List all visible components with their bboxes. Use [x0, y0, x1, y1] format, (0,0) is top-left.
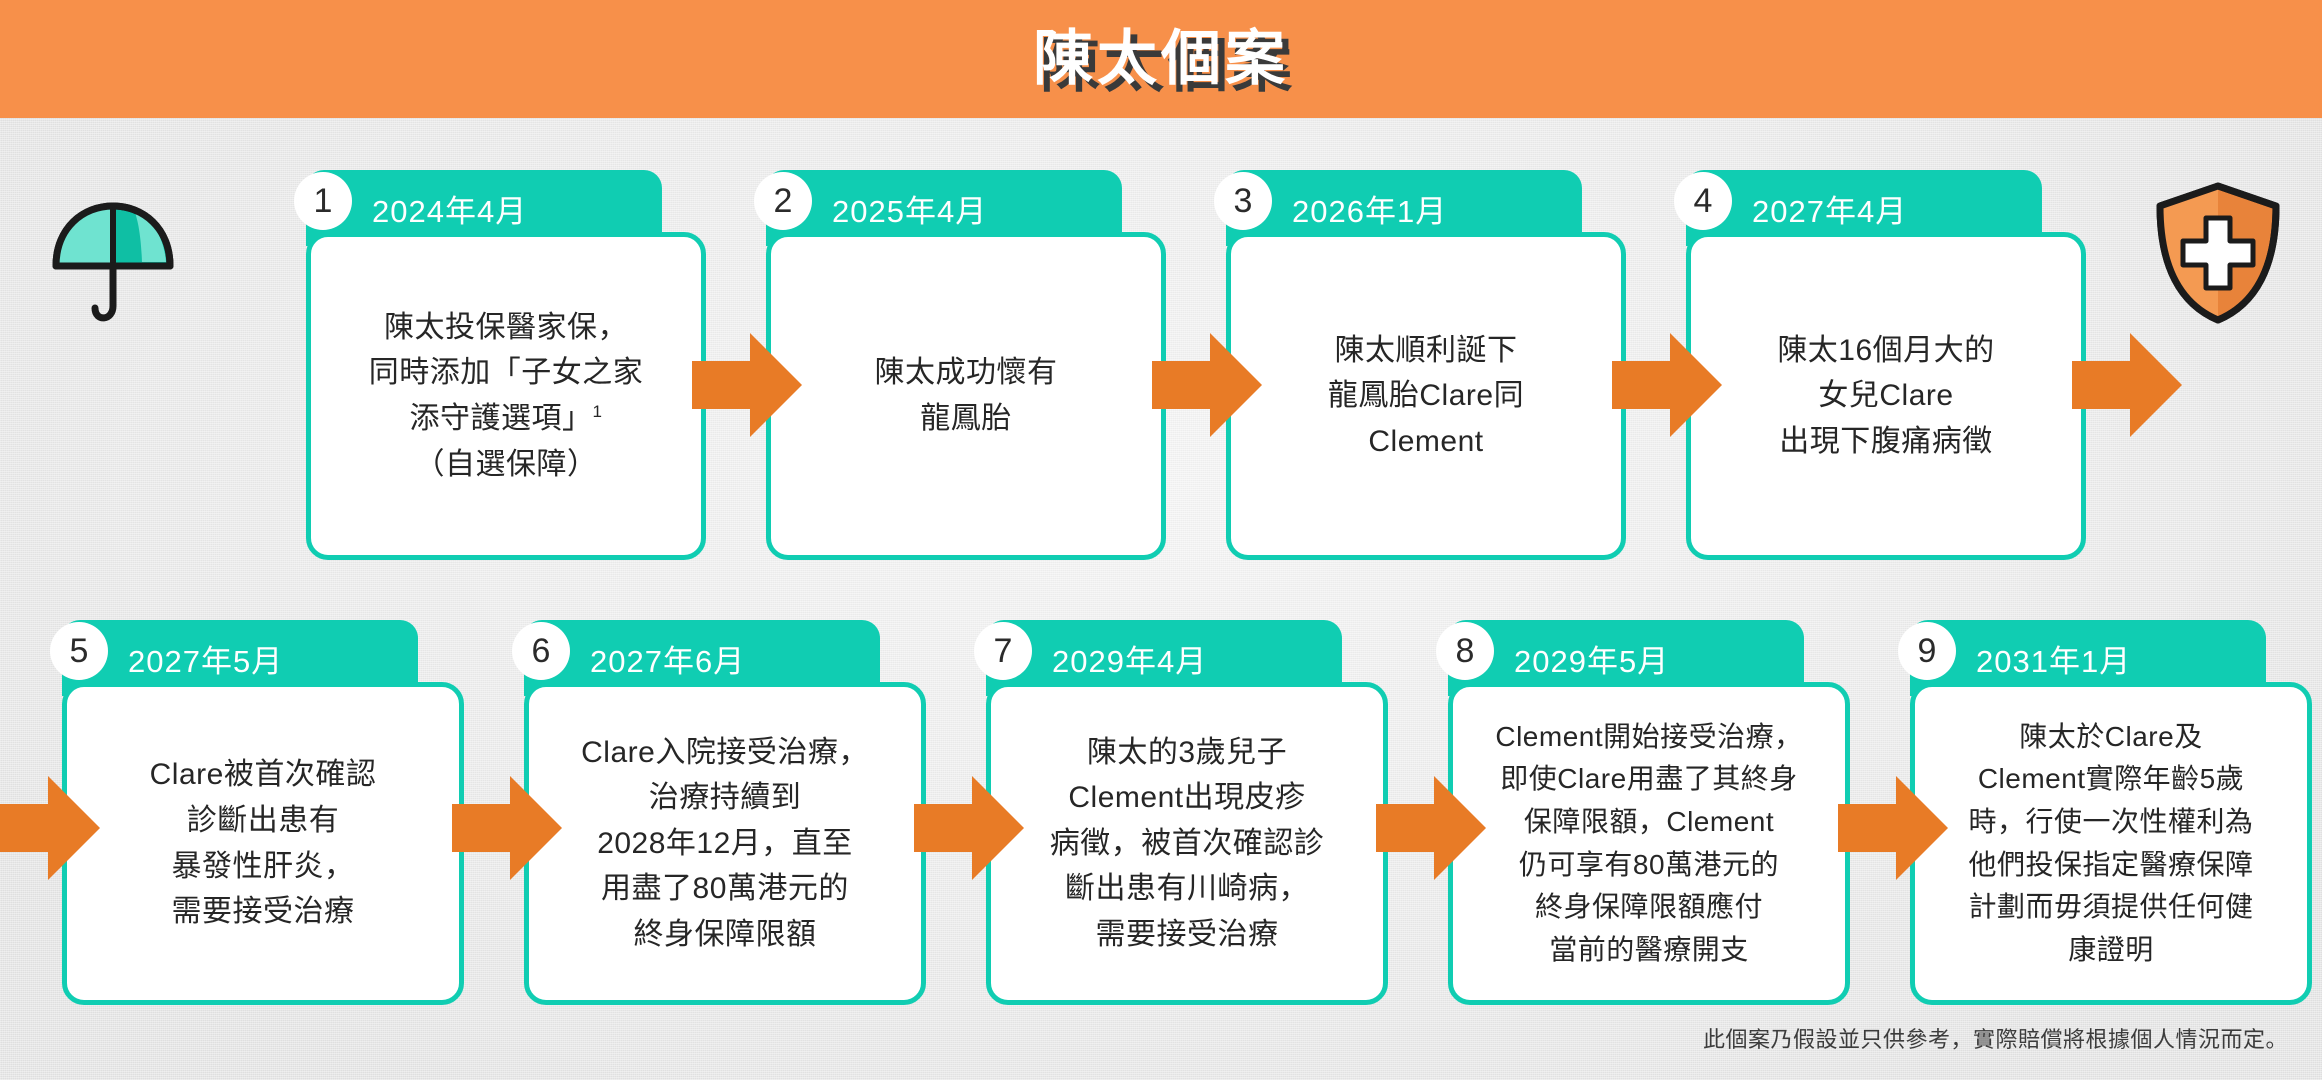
flow-arrow-4	[2072, 333, 2182, 437]
card-date-label: 2024年4月	[372, 186, 527, 231]
card-body: 陳太順利誕下 龍鳳胎Clare同 Clement	[1226, 232, 1626, 560]
flow-arrow-3	[1612, 333, 1722, 437]
card-body-text: Clare入院接受治療， 治療持續到 2028年12月，直至 用盡了80萬港元的…	[565, 730, 885, 958]
card-body-text: 陳太成功懷有 龍鳳胎	[859, 350, 1074, 441]
timeline-card-4[interactable]: 2027年4月 4 陳太16個月大的 女兒Clare 出現下腹痛病徵	[1686, 170, 2086, 560]
card-body-text: 陳太於Clare及 Clement實際年齡5歲 時，行使一次性權利為 他們投保指…	[1952, 716, 2269, 971]
flow-arrow-6	[452, 776, 562, 880]
card-date-label: 2027年4月	[1752, 186, 1907, 231]
flow-arrow-2	[1152, 333, 1262, 437]
flow-arrow-8	[1376, 776, 1486, 880]
card-body: Clare入院接受治療， 治療持續到 2028年12月，直至 用盡了80萬港元的…	[524, 682, 926, 1005]
card-date-label: 2027年5月	[128, 636, 283, 681]
card-body-text: Clement開始接受治療， 即使Clare用盡了其終身 保障限額，Clemen…	[1479, 716, 1818, 971]
card-number-badge: 5	[50, 622, 108, 680]
card-body: 陳太成功懷有 龍鳳胎	[766, 232, 1166, 560]
card-number-badge: 7	[974, 622, 1032, 680]
card-number-badge: 8	[1436, 622, 1494, 680]
footnote-marker: 1	[593, 402, 603, 421]
card-body: 陳太於Clare及 Clement實際年齡5歲 時，行使一次性權利為 他們投保指…	[1910, 682, 2312, 1005]
card-body: 陳太16個月大的 女兒Clare 出現下腹痛病徵	[1686, 232, 2086, 560]
umbrella-icon	[38, 188, 188, 338]
timeline-card-2[interactable]: 2025年4月 2 陳太成功懷有 龍鳳胎	[766, 170, 1166, 560]
card-date-label: 2029年5月	[1514, 636, 1669, 681]
disclaimer-footnote: 此個案乃假設並只供參考，實際賠償將根據個人情況而定。	[1703, 1022, 2288, 1054]
card-date-label: 2031年1月	[1976, 636, 2131, 681]
card-date-label: 2027年6月	[590, 636, 745, 681]
case-study-infographic: 陳太個案 2024年4月 1 陳太投保醫家保， 同時添加「子女之家 添守護選項」…	[0, 0, 2322, 1080]
card-body-text: 陳太16個月大的 女兒Clare 出現下腹痛病徵	[1761, 328, 2010, 465]
timeline-card-5[interactable]: 2027年5月 5 Clare被首次確認 診斷出患有 暴發性肝炎， 需要接受治療	[62, 620, 464, 1005]
flow-arrow-1	[692, 333, 802, 437]
card-body-text: 陳太投保醫家保， 同時添加「子女之家 添守護選項」1 （自選保障）	[353, 305, 660, 487]
page-banner: 陳太個案	[0, 0, 2322, 118]
flow-arrow-7	[914, 776, 1024, 880]
card-body: Clement開始接受治療， 即使Clare用盡了其終身 保障限額，Clemen…	[1448, 682, 1850, 1005]
timeline-card-1[interactable]: 2024年4月 1 陳太投保醫家保， 同時添加「子女之家 添守護選項」1 （自選…	[306, 170, 706, 560]
card-date-label: 2026年1月	[1292, 186, 1447, 231]
card-body: Clare被首次確認 診斷出患有 暴發性肝炎， 需要接受治療	[62, 682, 464, 1005]
timeline-card-8[interactable]: 2029年5月 8 Clement開始接受治療， 即使Clare用盡了其終身 保…	[1448, 620, 1850, 1005]
timeline-card-9[interactable]: 2031年1月 9 陳太於Clare及 Clement實際年齡5歲 時，行使一次…	[1910, 620, 2312, 1005]
shield-icon	[2148, 178, 2288, 328]
card-body-text: 陳太順利誕下 龍鳳胎Clare同 Clement	[1312, 328, 1540, 465]
timeline-card-6[interactable]: 2027年6月 6 Clare入院接受治療， 治療持續到 2028年12月，直至…	[524, 620, 926, 1005]
card-number-badge: 3	[1214, 172, 1272, 230]
card-body-text: 陳太的3歲兒子 Clement出現皮疹 病徵，被首次確認診 斷出患有川崎病， 需…	[1034, 730, 1341, 958]
card-date-label: 2029年4月	[1052, 636, 1207, 681]
timeline-card-3[interactable]: 2026年1月 3 陳太順利誕下 龍鳳胎Clare同 Clement	[1226, 170, 1626, 560]
timeline-card-7[interactable]: 2029年4月 7 陳太的3歲兒子 Clement出現皮疹 病徵，被首次確認診 …	[986, 620, 1388, 1005]
card-number-badge: 4	[1674, 172, 1732, 230]
card-number-badge: 9	[1898, 622, 1956, 680]
flow-arrow-5	[0, 776, 100, 880]
flow-arrow-9	[1838, 776, 1948, 880]
card-body: 陳太投保醫家保， 同時添加「子女之家 添守護選項」1 （自選保障）	[306, 232, 706, 560]
card-date-label: 2025年4月	[832, 186, 987, 231]
page-title: 陳太個案	[1033, 29, 1289, 89]
card-body: 陳太的3歲兒子 Clement出現皮疹 病徵，被首次確認診 斷出患有川崎病， 需…	[986, 682, 1388, 1005]
card-body-text: Clare被首次確認 診斷出患有 暴發性肝炎， 需要接受治療	[134, 752, 393, 934]
card-number-badge: 1	[294, 172, 352, 230]
card-number-badge: 2	[754, 172, 812, 230]
card-number-badge: 6	[512, 622, 570, 680]
